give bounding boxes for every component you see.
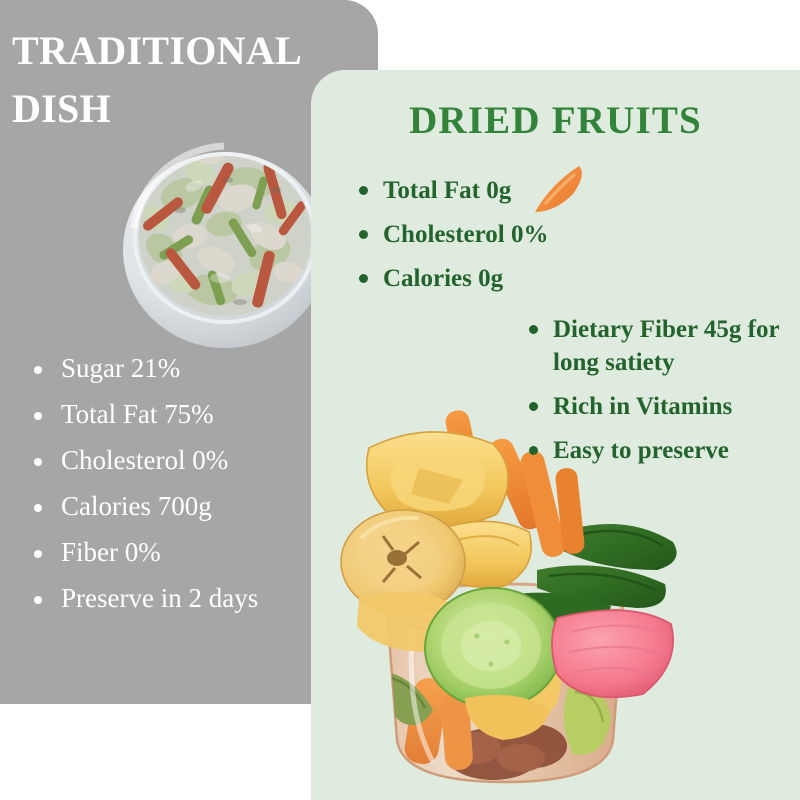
bullet-icon bbox=[359, 230, 368, 239]
bullet-icon bbox=[359, 274, 368, 283]
bullet-icon bbox=[529, 446, 538, 455]
list-item-label: Dietary Fiber 45g for long satiety bbox=[553, 316, 779, 376]
list-item: Preserve in 2 days bbox=[28, 585, 358, 612]
dried-fruits-title: DRIED FRUITS bbox=[311, 98, 800, 143]
list-item: Rich in Vitamins bbox=[521, 390, 800, 423]
list-item: Calories 700g bbox=[28, 493, 358, 520]
list-item-label: Cholesterol 0% bbox=[61, 445, 228, 475]
bullet-icon bbox=[529, 402, 538, 411]
traditional-dish-list: Sugar 21% Total Fat 75% Cholesterol 0% C… bbox=[28, 355, 358, 631]
list-item-label: Rich in Vitamins bbox=[553, 393, 732, 420]
list-item-label: Easy to preserve bbox=[553, 437, 729, 464]
bullet-icon bbox=[529, 325, 538, 334]
list-item: Total Fat 0g bbox=[351, 174, 771, 207]
list-item-label: Fiber 0% bbox=[61, 537, 161, 567]
list-item: Cholesterol 0% bbox=[351, 218, 771, 251]
list-item: Sugar 21% bbox=[28, 355, 358, 382]
dried-fruits-list-primary: Total Fat 0g Cholesterol 0% Calories 0g bbox=[351, 174, 771, 306]
list-item: Dietary Fiber 45g for long satiety bbox=[521, 313, 800, 379]
list-item: Easy to preserve bbox=[521, 434, 800, 467]
bullet-icon bbox=[34, 596, 42, 604]
list-item: Cholesterol 0% bbox=[28, 447, 358, 474]
bullet-icon bbox=[34, 366, 42, 374]
traditional-dish-photo bbox=[120, 132, 330, 352]
bullet-icon bbox=[34, 550, 42, 558]
list-item-label: Total Fat 75% bbox=[61, 399, 214, 429]
list-item: Total Fat 75% bbox=[28, 401, 358, 428]
bullet-icon bbox=[34, 458, 42, 466]
dried-fruits-panel: DRIED FRUITS Total Fat 0g Cholesterol 0%… bbox=[311, 70, 800, 800]
list-item-label: Calories 700g bbox=[61, 491, 212, 521]
list-item-label: Sugar 21% bbox=[61, 353, 180, 383]
list-item-label: Calories 0g bbox=[383, 265, 503, 292]
list-item-label: Preserve in 2 days bbox=[61, 583, 258, 613]
infographic-canvas: TRADITIONAL DISH bbox=[0, 0, 800, 800]
list-item: Calories 0g bbox=[351, 262, 771, 295]
dried-fruits-list-secondary: Dietary Fiber 45g for long satiety Rich … bbox=[521, 313, 800, 478]
bullet-icon bbox=[359, 186, 368, 195]
list-item-label: Cholesterol 0% bbox=[383, 221, 549, 248]
list-item: Fiber 0% bbox=[28, 539, 358, 566]
list-item-label: Total Fat 0g bbox=[383, 177, 511, 204]
bullet-icon bbox=[34, 412, 42, 420]
bullet-icon bbox=[34, 504, 42, 512]
